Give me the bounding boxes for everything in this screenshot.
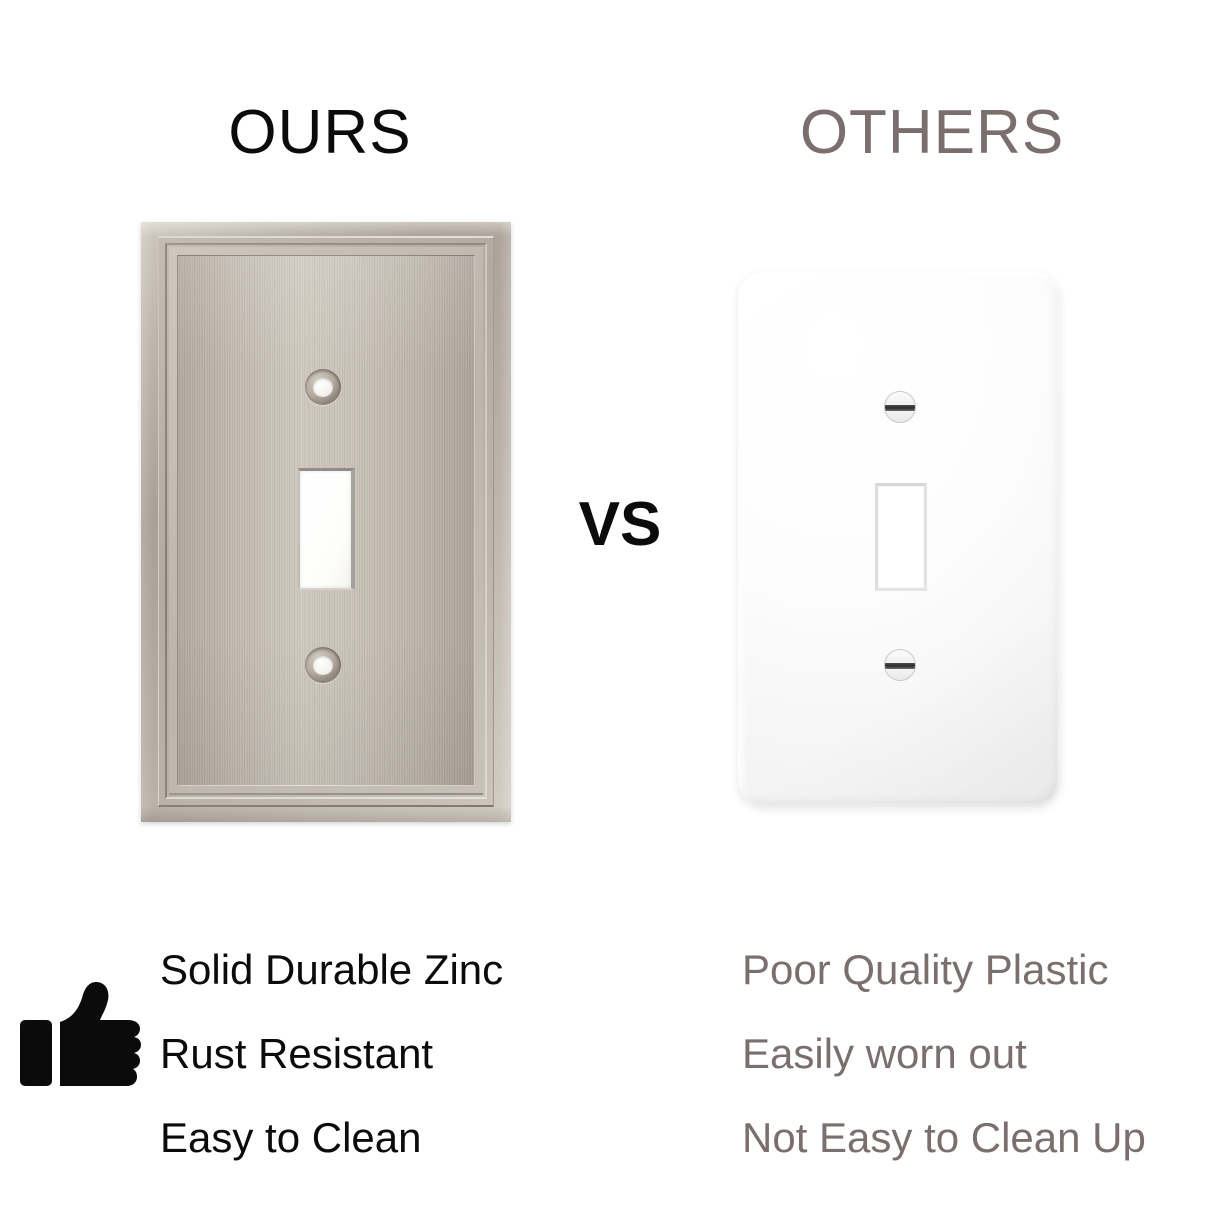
plastic-wall-plate-image xyxy=(738,272,1060,806)
drawback-item-3: Not Easy to Clean Up xyxy=(742,1096,1146,1180)
metal-plate-toggle-opening xyxy=(298,468,355,590)
benefit-item-2: Rust Resistant xyxy=(160,1012,503,1096)
benefit-item-1: Solid Durable Zinc xyxy=(160,928,503,1012)
drawback-item-2: Easily worn out xyxy=(742,1012,1146,1096)
vs-label: VS xyxy=(560,494,680,556)
plastic-plate-screw-bottom xyxy=(884,649,916,681)
heading-others: OTHERS xyxy=(640,102,1224,164)
plastic-plate-toggle-opening xyxy=(875,483,927,591)
metal-plate-screw-hole-top xyxy=(305,369,341,405)
drawbacks-list: Poor Quality Plastic Easily worn out Not… xyxy=(742,928,1146,1180)
heading-ours: OURS xyxy=(0,102,640,164)
plastic-plate-screw-top xyxy=(884,391,916,423)
thumbs-up-icon xyxy=(20,982,144,1086)
benefits-list: Solid Durable Zinc Rust Resistant Easy t… xyxy=(160,928,503,1180)
benefit-item-3: Easy to Clean xyxy=(160,1096,503,1180)
metal-wall-plate-image xyxy=(141,222,511,822)
comparison-infographic: OURS OTHERS VS Solid Durable Zinc Rust R… xyxy=(0,0,1224,1224)
drawback-item-1: Poor Quality Plastic xyxy=(742,928,1146,1012)
metal-plate-screw-hole-bottom xyxy=(305,647,341,683)
